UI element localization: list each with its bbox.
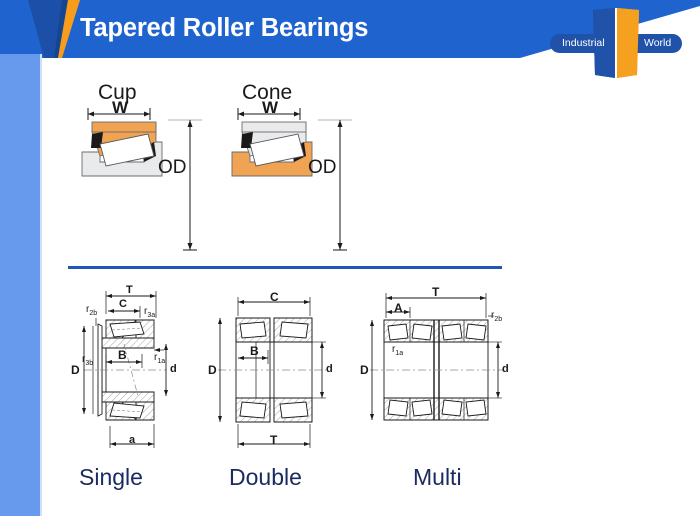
- single-label-r3b: r3b: [82, 354, 93, 367]
- single-label-r2b: r2b: [86, 304, 97, 317]
- multi-label-r2b-sub: 2b: [494, 316, 502, 323]
- page-title: Tapered Roller Bearings: [80, 14, 368, 43]
- cone-width-label: W: [262, 98, 278, 118]
- single-caption: Single: [79, 464, 143, 491]
- section-divider: [68, 266, 502, 269]
- cup-od-label: OD: [158, 157, 187, 179]
- double-label-C: C: [270, 290, 279, 304]
- cone-od-label: OD: [308, 157, 337, 179]
- logo-left-label: Industrial: [562, 37, 605, 49]
- multi-bearing-drawing: T A r2b r1a D d: [362, 284, 512, 456]
- double-label-d: d: [326, 363, 333, 375]
- slide-canvas: Tapered Roller Bearings Industrial World…: [0, 0, 700, 516]
- single-label-r1a-sub: 1a: [157, 358, 165, 365]
- multi-label-d: d: [502, 363, 509, 375]
- multi-label-r1a: r1a: [392, 344, 403, 357]
- double-label-B: B: [250, 344, 259, 358]
- cup-width-label: W: [112, 98, 128, 118]
- multi-label-r1a-sub: 1a: [395, 350, 403, 357]
- single-label-r1a: r1a: [154, 352, 165, 365]
- multi-label-r2b: r2b: [491, 310, 502, 323]
- single-label-a: a: [129, 434, 135, 446]
- double-label-D: D: [208, 363, 217, 377]
- single-label-r2b-sub: 2b: [89, 310, 97, 317]
- logo: Industrial World: [540, 4, 692, 82]
- single-label-T: T: [126, 284, 133, 296]
- single-label-d: d: [170, 363, 177, 375]
- cone-drawing: W OD: [220, 104, 420, 254]
- single-label-r3a: r3a: [144, 306, 155, 319]
- multi-label-D: D: [360, 363, 369, 377]
- left-sidebar-edge: [40, 54, 42, 516]
- single-label-r3b-sub: 3b: [85, 360, 93, 367]
- single-label-B: B: [118, 348, 127, 362]
- double-caption: Double: [229, 464, 302, 491]
- multi-caption: Multi: [413, 464, 462, 491]
- logo-right-label: World: [644, 37, 671, 49]
- single-bearing-drawing: T C r2b r3a r3b r1a B D d a: [66, 284, 190, 456]
- left-sidebar-band: [0, 54, 40, 516]
- multi-label-T: T: [432, 285, 439, 299]
- double-bearing-drawing: C B D d T: [208, 284, 336, 456]
- single-label-C: C: [119, 298, 127, 310]
- logo-vertical-orange-front: [617, 8, 639, 78]
- single-label-r3a-sub: 3a: [147, 312, 155, 319]
- multi-label-A: A: [394, 301, 403, 315]
- logo-center-split: [615, 8, 617, 78]
- double-label-T: T: [270, 433, 277, 447]
- single-label-D: D: [71, 363, 80, 377]
